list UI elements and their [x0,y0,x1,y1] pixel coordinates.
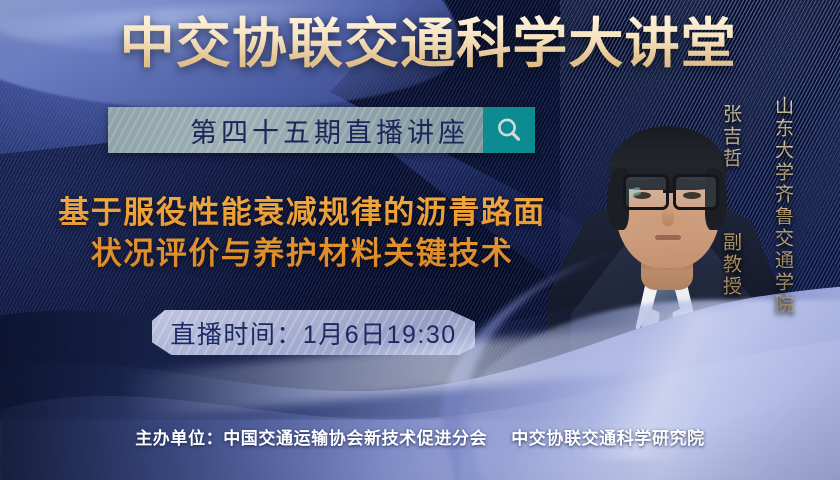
lecture-title-line-2: 状况评价与养护材料关键技术 [22,233,582,274]
schedule-badge: 直播时间：1月6日19:30 [152,310,475,355]
footer-label: 主办单位： [135,429,223,448]
search-icon [494,115,524,145]
footer-organizer-1: 中国交通运输协会新技术促进分会 [223,429,487,448]
speaker-title: 副教授 [720,232,741,298]
speaker-name: 张吉哲 [720,104,741,170]
footer-organizer-2: 中交协联交通科学研究院 [511,429,705,448]
speaker-credentials: 张吉哲 副教授 [717,104,744,298]
portrait-glasses-right-lens [673,174,719,210]
episode-label: 第四十五期直播讲座 [190,111,469,150]
speaker-institution: 山东大学齐鲁交通学院 [769,96,796,316]
lecture-title: 基于服役性能衰减规律的沥青路面 状况评价与养护材料关键技术 [22,192,582,274]
search-button[interactable] [483,107,535,153]
footer: 主办单位：中国交通运输协会新技术促进分会中交协联交通科学研究院 [0,424,840,449]
lecture-title-line-1: 基于服役性能衰减规律的沥青路面 [58,195,546,230]
live-lecture-poster: 中交协联交通科学大讲堂 第四十五期直播讲座 基于服役性能衰减规律的沥青路面 状况… [0,0,840,480]
schedule-text: 直播时间：1月6日19:30 [170,315,456,351]
portrait-glasses-bridge [663,190,673,193]
episode-bar: 第四十五期直播讲座 [108,107,535,153]
page-title: 中交协联交通科学大讲堂 [0,12,840,76]
episode-plate: 第四十五期直播讲座 [108,107,483,153]
